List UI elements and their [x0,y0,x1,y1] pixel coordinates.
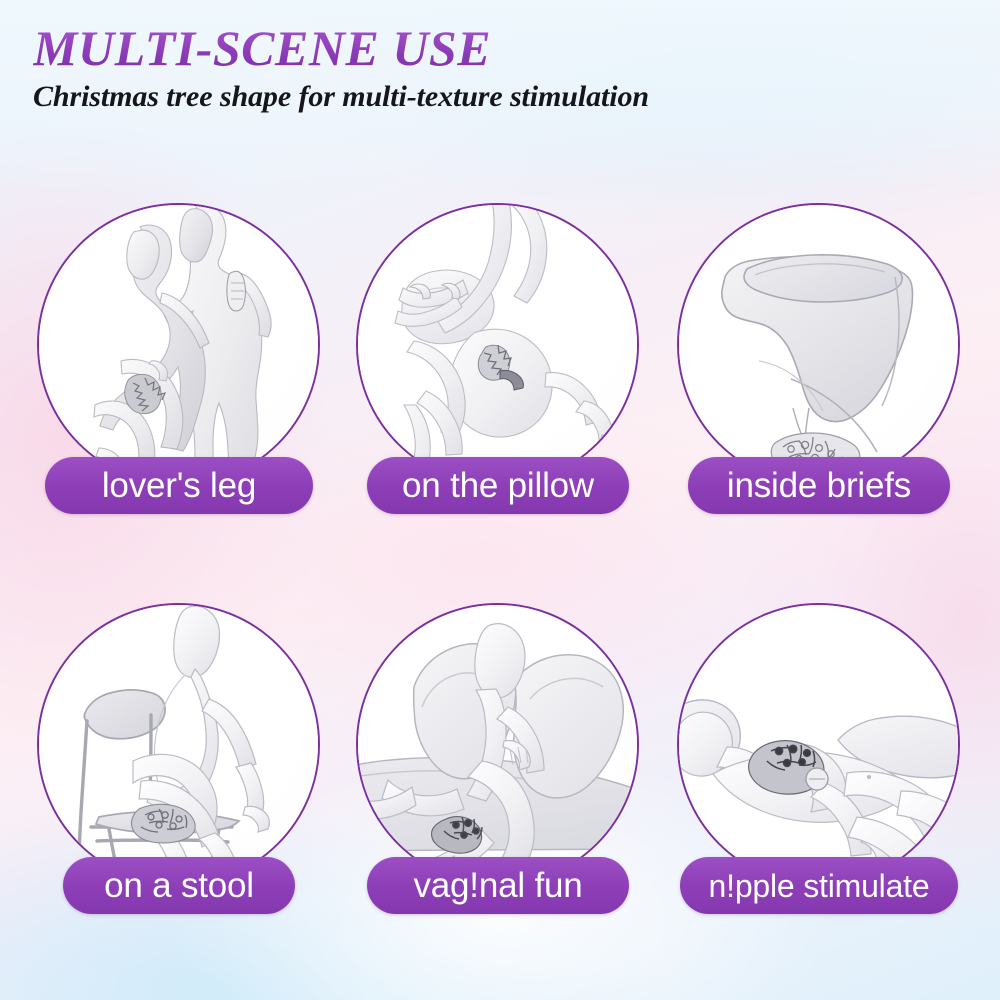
scene-label-text: on the pillow [402,468,594,503]
scene-card-on-the-pillow[interactable]: on the pillow [348,196,648,526]
scene-circle [356,603,639,886]
scene-label-pill[interactable]: on the pillow [367,457,629,514]
scene-card-lovers-leg[interactable]: lover's leg [29,196,329,526]
scene-circle-clip [679,205,958,484]
scene-label-pill[interactable]: n!pple stimulate [680,857,958,914]
scene-circle-clip [358,605,637,884]
scene-circle-clip [39,605,318,884]
scene-card-vaginal-fun[interactable]: vag!nal fun [348,596,648,926]
scene-label-text: n!pple stimulate [709,870,930,902]
poster-root: MULTI-SCENE USE Christmas tree shape for… [0,0,1000,1000]
scene-grid: lover's leg [0,196,1000,976]
scene-circle-clip [39,205,318,484]
scene-circle-clip [679,605,958,884]
scene-circle [677,203,960,486]
scene-label-pill[interactable]: inside briefs [688,457,950,514]
scene-circle [37,203,320,486]
page-subtitle: Christmas tree shape for multi-texture s… [33,80,953,114]
scene-circle-clip [358,205,637,484]
scene-label-text: vag!nal fun [413,868,582,903]
scene-label-pill[interactable]: lover's leg [45,457,313,514]
scene-card-inside-briefs[interactable]: inside briefs [669,196,969,526]
illustration-couple-kneeling-over-pillow [358,205,637,484]
header: MULTI-SCENE USE Christmas tree shape for… [33,22,953,114]
page-title: MULTI-SCENE USE [33,22,953,74]
scene-circle [356,203,639,486]
scene-label-pill[interactable]: on a stool [63,857,295,914]
scene-circle [677,603,960,886]
scene-label-text: inside briefs [727,468,911,503]
illustration-figure-lying-on-bed [679,605,958,884]
illustration-figure-reclining-on-pillows [358,605,637,884]
scene-label-text: lover's leg [102,468,256,503]
scene-circle [37,603,320,886]
illustration-figure-on-folding-chair [39,605,318,884]
scene-label-pill[interactable]: vag!nal fun [367,857,629,914]
illustration-briefs-underwear [679,205,958,484]
scene-card-on-a-stool[interactable]: on a stool [29,596,329,926]
scene-card-nipple-stimulate[interactable]: n!pple stimulate [669,596,969,926]
illustration-couple-standing-embrace [39,205,318,484]
scene-label-text: on a stool [104,868,254,903]
